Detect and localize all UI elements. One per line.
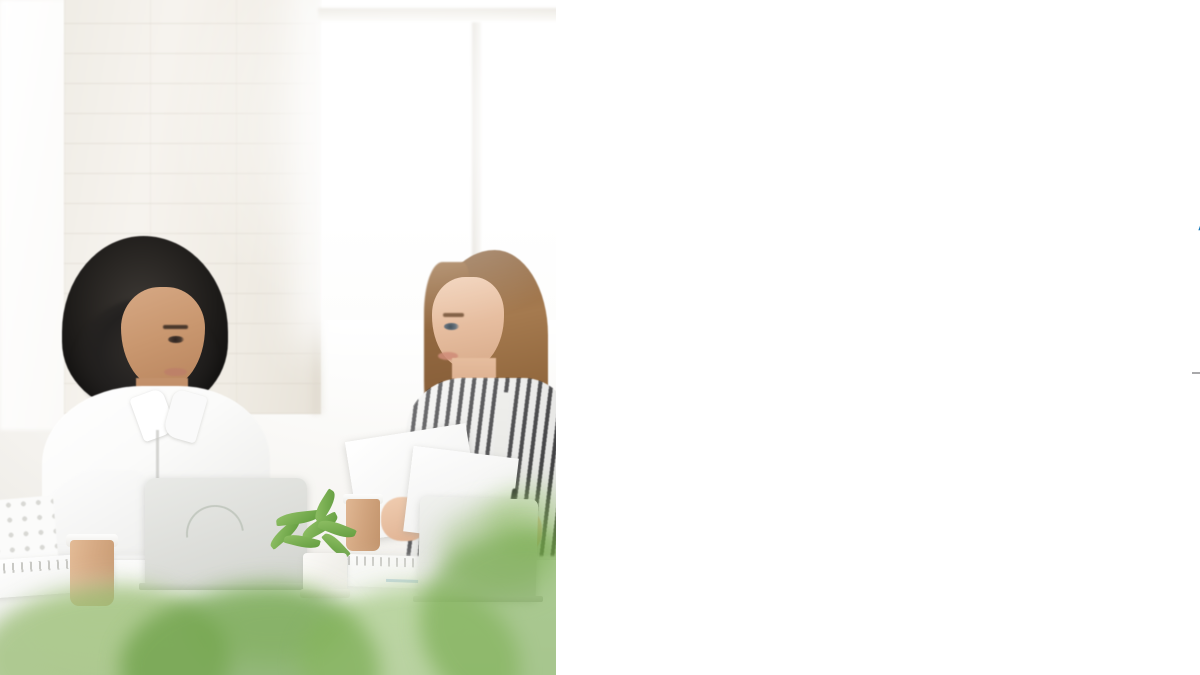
slide-content: Web Development Presentation Annual Boar…: [556, 0, 1200, 675]
woman-left-eye: [168, 336, 184, 343]
section-divider: [1192, 372, 1200, 374]
woman-left-lips: [164, 368, 187, 376]
woman-right-eyebrow: [443, 313, 464, 317]
coffee-cup-back: [346, 499, 380, 551]
window-header: [318, 8, 556, 21]
meeting-photo-illustration: [0, 0, 556, 675]
presentation-slide: Web Development Presentation Annual Boar…: [0, 0, 1200, 675]
woman-left-eyebrow: [163, 325, 188, 329]
plant-pot-base: [300, 589, 350, 598]
laptop-right: [418, 496, 539, 599]
hero-photo: [0, 0, 556, 675]
woman-right-eye: [444, 323, 459, 330]
laptop-left-base: [139, 583, 313, 590]
laptop-right-base: [413, 596, 543, 602]
coffee-cup-front: [70, 540, 114, 606]
